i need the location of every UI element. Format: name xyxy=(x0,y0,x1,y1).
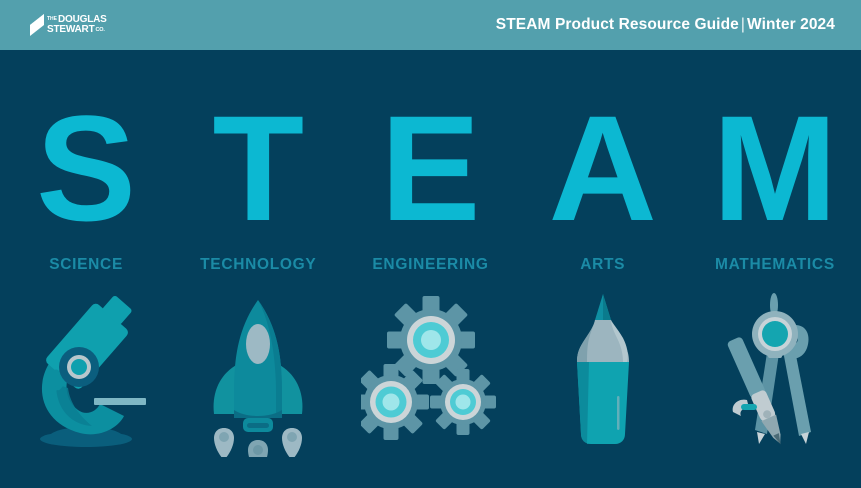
steam-column-arts[interactable]: A ARTS xyxy=(517,105,689,452)
steam-label-engineering: ENGINEERING xyxy=(372,256,488,274)
compass-divider-icon-wrap xyxy=(715,292,835,452)
steam-label-science: SCIENCE xyxy=(49,256,123,274)
steam-label-technology: TECHNOLOGY xyxy=(200,256,316,274)
highlighter-icon xyxy=(553,292,653,457)
highlighter-icon-wrap xyxy=(553,292,653,452)
steam-letter-a: A xyxy=(549,105,657,230)
brand-stewart-text: STEWART xyxy=(47,25,95,35)
rocket-icon-wrap xyxy=(198,292,318,452)
microscope-icon-wrap xyxy=(26,292,146,452)
brand-the-text: THE xyxy=(47,15,57,24)
steam-label-arts: ARTS xyxy=(580,256,625,274)
steam-column-engineering[interactable]: E ENGINEERING xyxy=(344,105,516,452)
header-bar: THE DOUGLAS STEWART CO. STEAM Product Re… xyxy=(0,0,861,50)
steam-column-mathematics[interactable]: M MATHEMATICS xyxy=(689,105,861,452)
steam-board: S SCIENCE xyxy=(0,50,861,488)
steam-label-mathematics: MATHEMATICS xyxy=(715,256,835,274)
steam-letter-e: E xyxy=(380,105,480,230)
header-title: STEAM Product Resource Guide|Winter 2024 xyxy=(496,16,835,34)
douglas-stewart-diamond-mark-icon xyxy=(30,14,44,36)
steam-letter-s: S xyxy=(36,105,136,230)
header-title-season: Winter 2024 xyxy=(747,16,835,33)
compass-divider-icon xyxy=(715,292,835,457)
steam-letter-m: M xyxy=(712,105,837,230)
steam-column-science[interactable]: S SCIENCE xyxy=(0,105,172,452)
gears-icon-wrap xyxy=(361,292,501,452)
header-title-separator: | xyxy=(739,16,747,33)
steam-column-technology[interactable]: T TECHNOLOGY xyxy=(172,105,344,452)
douglas-stewart-logo[interactable]: THE DOUGLAS STEWART CO. xyxy=(30,12,107,38)
header-title-main: STEAM Product Resource Guide xyxy=(496,16,739,33)
brand-co-text: CO. xyxy=(96,25,105,35)
steam-columns: S SCIENCE xyxy=(0,105,861,452)
steam-letter-t: T xyxy=(212,105,304,230)
brand-wordmark: THE DOUGLAS STEWART CO. xyxy=(47,15,107,35)
gears-icon xyxy=(361,292,501,452)
microscope-icon xyxy=(26,292,146,452)
brand-line-two: STEWART CO. xyxy=(47,25,107,35)
rocket-icon xyxy=(198,292,318,457)
